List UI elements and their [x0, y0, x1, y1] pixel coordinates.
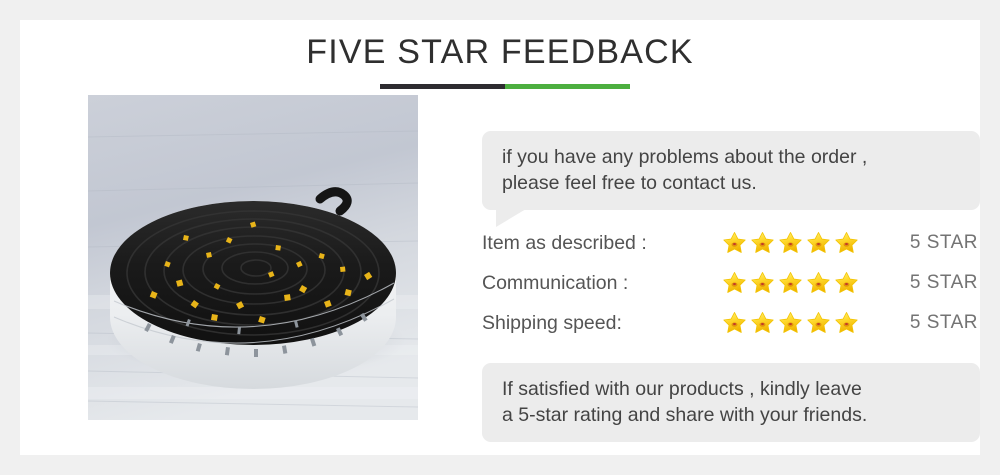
star-icon	[750, 271, 775, 295]
title-underline-dark-segment	[380, 84, 505, 89]
star-icon	[750, 311, 775, 335]
star-icon	[834, 271, 859, 295]
contact-message-line-2: please feel free to contact us.	[502, 170, 960, 196]
star-icon	[834, 311, 859, 335]
contact-message-line-1: if you have any problems about the order…	[502, 144, 960, 170]
feedback-banner: FIVE STAR FEEDBACK	[0, 0, 1000, 475]
page-title: FIVE STAR FEEDBACK	[0, 30, 1000, 74]
star-rating	[722, 271, 860, 295]
title-underline-green-segment	[505, 84, 630, 89]
review-request-bubble: If satisfied with our products , kindly …	[482, 363, 980, 442]
rating-label: Item as described :	[482, 232, 722, 255]
star-rating	[722, 311, 860, 335]
title-underline	[380, 84, 630, 89]
ratings-list: Item as described : 5 STAR Communication…	[482, 223, 980, 343]
star-icon	[806, 271, 831, 295]
review-request-line-1: If satisfied with our products , kindly …	[502, 376, 960, 402]
star-icon	[806, 231, 831, 255]
rating-value: 5 STAR	[860, 272, 980, 294]
rating-row: Item as described : 5 STAR	[482, 223, 980, 263]
star-icon	[806, 311, 831, 335]
star-icon	[778, 311, 803, 335]
feedback-content: if you have any problems about the order…	[482, 95, 980, 425]
star-icon	[750, 231, 775, 255]
rating-row: Shipping speed: 5 STAR	[482, 303, 980, 343]
star-rating	[722, 231, 860, 255]
contact-message-bubble: if you have any problems about the order…	[482, 131, 980, 210]
rating-label: Communication :	[482, 272, 722, 295]
review-request-line-2: a 5-star rating and share with your frie…	[502, 402, 960, 428]
star-icon	[722, 311, 747, 335]
product-photo-image	[88, 95, 418, 420]
star-icon	[722, 271, 747, 295]
page-title-block: FIVE STAR FEEDBACK	[0, 30, 1000, 74]
star-icon	[778, 271, 803, 295]
rating-row: Communication : 5 STAR	[482, 263, 980, 303]
rating-value: 5 STAR	[860, 312, 980, 334]
star-icon	[834, 231, 859, 255]
product-photo	[88, 95, 418, 420]
star-icon	[778, 231, 803, 255]
rating-value: 5 STAR	[860, 232, 980, 254]
star-icon	[722, 231, 747, 255]
rating-label: Shipping speed:	[482, 312, 722, 335]
